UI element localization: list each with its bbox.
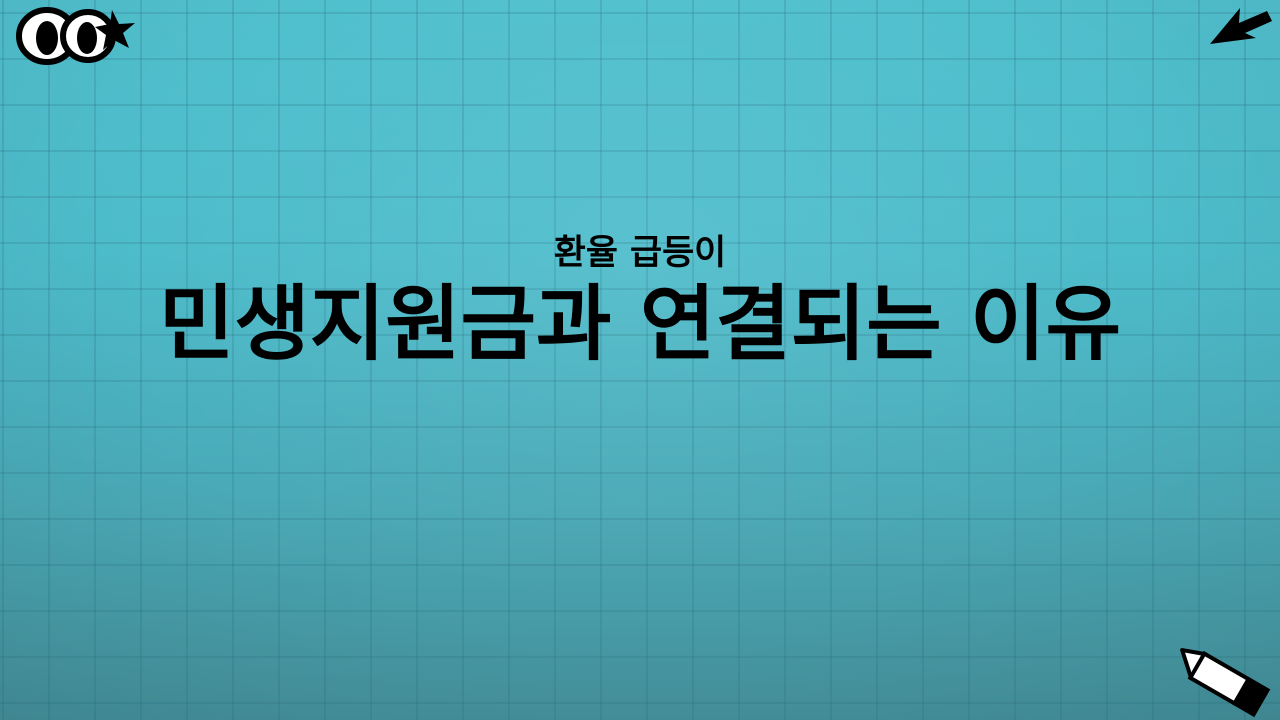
eyes-icon <box>19 10 113 62</box>
logo-svg <box>8 2 138 74</box>
title-line-2: 민생지원금과 연결되는 이유 <box>20 275 1260 375</box>
page-title: 환율 급등이 민생지원금과 연결되는 이유 <box>0 232 1280 375</box>
arrow-up-left-icon <box>1204 2 1274 58</box>
doodle-eyes-star-logo <box>8 2 138 74</box>
pencil-svg <box>1162 642 1274 718</box>
slide-canvas: 환율 급등이 민생지원금과 연결되는 이유 <box>0 0 1280 720</box>
arrow-svg <box>1204 2 1274 58</box>
pencil-icon <box>1162 642 1274 718</box>
title-line-1: 환율 급등이 <box>20 232 1260 275</box>
